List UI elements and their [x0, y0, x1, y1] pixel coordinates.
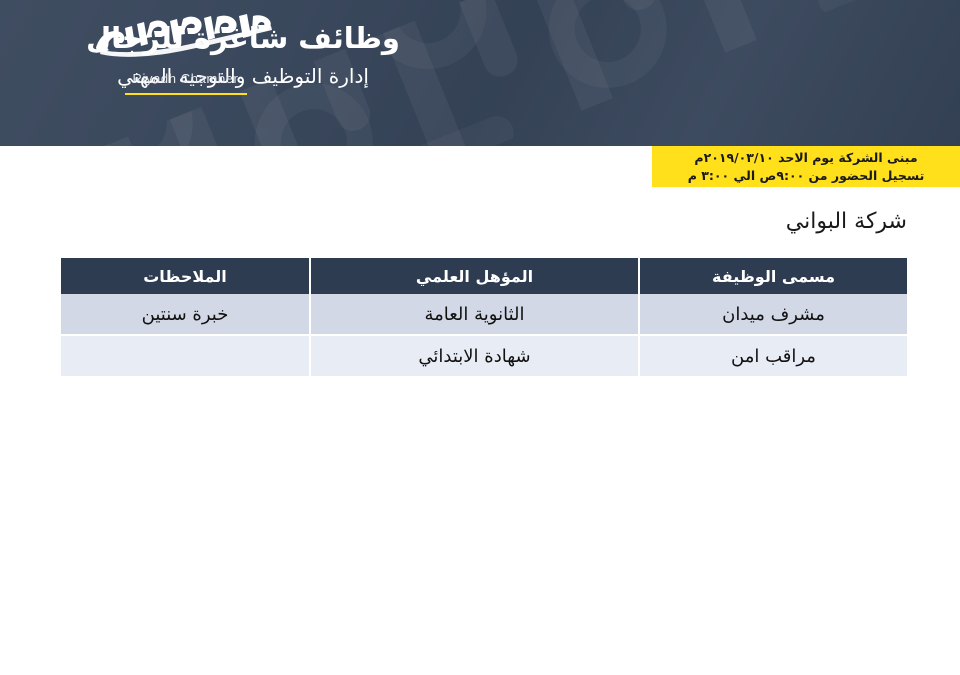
column-header-job-title: مسمى الوظيفة [638, 258, 907, 294]
column-header-notes: الملاحظات [61, 258, 309, 294]
vacancies-table-container: مسمى الوظيفة المؤهل العلمي الملاحظات مشر… [61, 258, 907, 378]
notice-date-line: مبنى الشركة يوم الاحد ٢٠١٩/٠٣/١٠م [694, 150, 917, 166]
vacancies-table: مسمى الوظيفة المؤهل العلمي الملاحظات مشر… [61, 258, 907, 378]
table-header: مسمى الوظيفة المؤهل العلمي الملاحظات [61, 258, 907, 294]
table-row: مراقب امن شهادة الابتدائي [61, 336, 907, 378]
cell-qualification: شهادة الابتدائي [309, 336, 638, 378]
table-row: مشرف ميدان الثانوية العامة خبرة سنتين [61, 294, 907, 336]
cell-job-title: مراقب امن [638, 336, 907, 378]
cell-qualification: الثانوية العامة [309, 294, 638, 336]
cell-notes: خبرة سنتين [61, 294, 309, 336]
column-header-qualification: المؤهل العلمي [309, 258, 638, 294]
cell-notes [61, 336, 309, 378]
table-body: مشرف ميدان الثانوية العامة خبرة سنتين مر… [61, 294, 907, 378]
notice-time-line: تسجيل الحضور من ٩:٠٠ص الي ٣:٠٠ م [688, 168, 925, 184]
riyadh-chamber-logo: Riyadh Chamber [83, 14, 288, 95]
page-header-banner: وظائف شاغرة للرجال إدارة التوظيف والتوجي… [0, 0, 960, 146]
chamber-latin-name: Riyadh Chamber [83, 71, 288, 86]
event-notice-bar: مبنى الشركة يوم الاحد ٢٠١٩/٠٣/١٠م تسجيل … [652, 146, 960, 187]
chamber-arabic-wordmark-icon [91, 14, 281, 62]
logo-underline-rule [125, 93, 247, 95]
cell-job-title: مشرف ميدان [638, 294, 907, 336]
table-header-row: مسمى الوظيفة المؤهل العلمي الملاحظات [61, 258, 907, 294]
company-name: شركة البواني [786, 208, 907, 237]
